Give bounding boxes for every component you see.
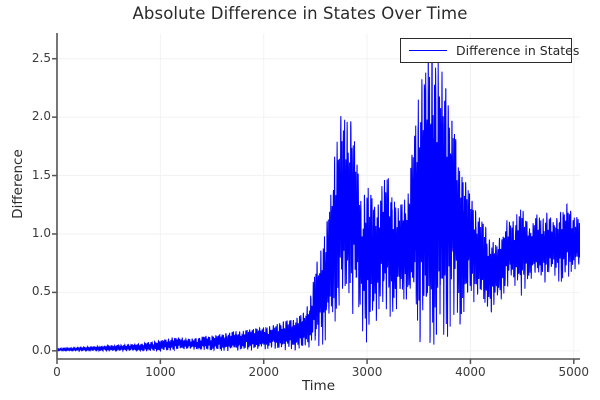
- chart-legend[interactable]: Difference in States: [400, 38, 572, 63]
- chart-figure: Absolute Difference in States Over Time …: [0, 0, 600, 400]
- x-tick-label: 4000: [440, 365, 500, 379]
- data-series-difference-in-states: [57, 58, 580, 351]
- plot-area: [57, 33, 580, 359]
- legend-label: Difference in States: [456, 43, 579, 58]
- series-line: [57, 58, 580, 351]
- x-tick-label: 0: [27, 365, 87, 379]
- x-tick-label: 5000: [544, 365, 600, 379]
- x-tick-label: 3000: [337, 365, 397, 379]
- legend-line-swatch: [409, 50, 447, 51]
- x-tick-label: 2000: [234, 365, 294, 379]
- x-tick-label: 1000: [130, 365, 190, 379]
